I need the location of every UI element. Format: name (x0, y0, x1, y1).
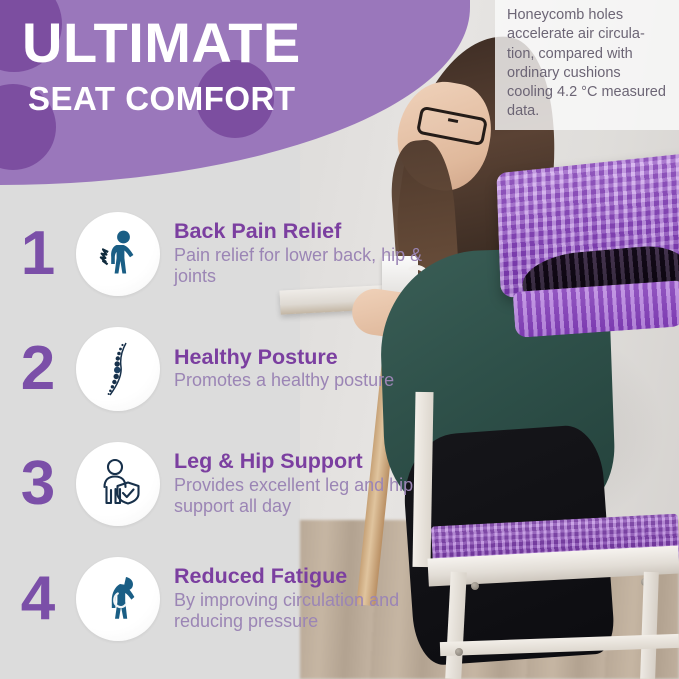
feature-description: By improving circulation and reducing pr… (174, 590, 430, 632)
feature-description: Promotes a healthy posture (174, 370, 430, 391)
feature-number: 4 (0, 568, 76, 630)
chair-screw (471, 582, 479, 590)
headline-secondary: SEAT COMFORT (28, 81, 301, 117)
person-shield-check-icon (76, 442, 160, 526)
feature-row: 3 Leg & Hip Support Provides excellent l… (0, 426, 430, 541)
feature-row: 2 Healthy Posture (0, 311, 430, 426)
feature-text-group: Leg & Hip Support Provides excellent leg… (174, 450, 430, 517)
feature-title: Healthy Posture (174, 346, 430, 370)
feature-list: 1 Back Pain Relief Pain relief for lower… (0, 196, 430, 656)
callout-text: Honeycomb holes accelerate air circula-t… (507, 6, 669, 122)
fatigued-person-icon (76, 557, 160, 641)
feature-description: Pain relief for lower back, hip & joints (174, 245, 430, 287)
back-pain-person-icon (76, 212, 160, 296)
feature-text-group: Healthy Posture Promotes a healthy postu… (174, 346, 430, 392)
feature-title: Back Pain Relief (174, 220, 430, 244)
headline-primary: ULTIMATE (22, 14, 301, 73)
feature-number: 1 (0, 223, 76, 285)
feature-number: 3 (0, 453, 76, 515)
feature-description: Provides excellent leg and hip support a… (174, 475, 430, 517)
feature-number: 2 (0, 338, 76, 400)
chair-screw (455, 648, 463, 656)
feature-row: 4 Reduced Fatigue By improving circulati… (0, 541, 430, 656)
feature-row: 1 Back Pain Relief Pain relief for lower… (0, 196, 430, 311)
spine-icon (76, 327, 160, 411)
callout-box: Honeycomb holes accelerate air circula-t… (495, 0, 679, 130)
feature-text-group: Reduced Fatigue By improving circulation… (174, 565, 430, 632)
feature-title: Reduced Fatigue (174, 565, 430, 589)
feature-text-group: Back Pain Relief Pain relief for lower b… (174, 220, 430, 287)
product-infographic: ULTIMATE SEAT COMFORT Honeycomb holes ac… (0, 0, 679, 679)
feature-title: Leg & Hip Support (174, 450, 430, 474)
header-text-group: ULTIMATE SEAT COMFORT (22, 14, 301, 117)
